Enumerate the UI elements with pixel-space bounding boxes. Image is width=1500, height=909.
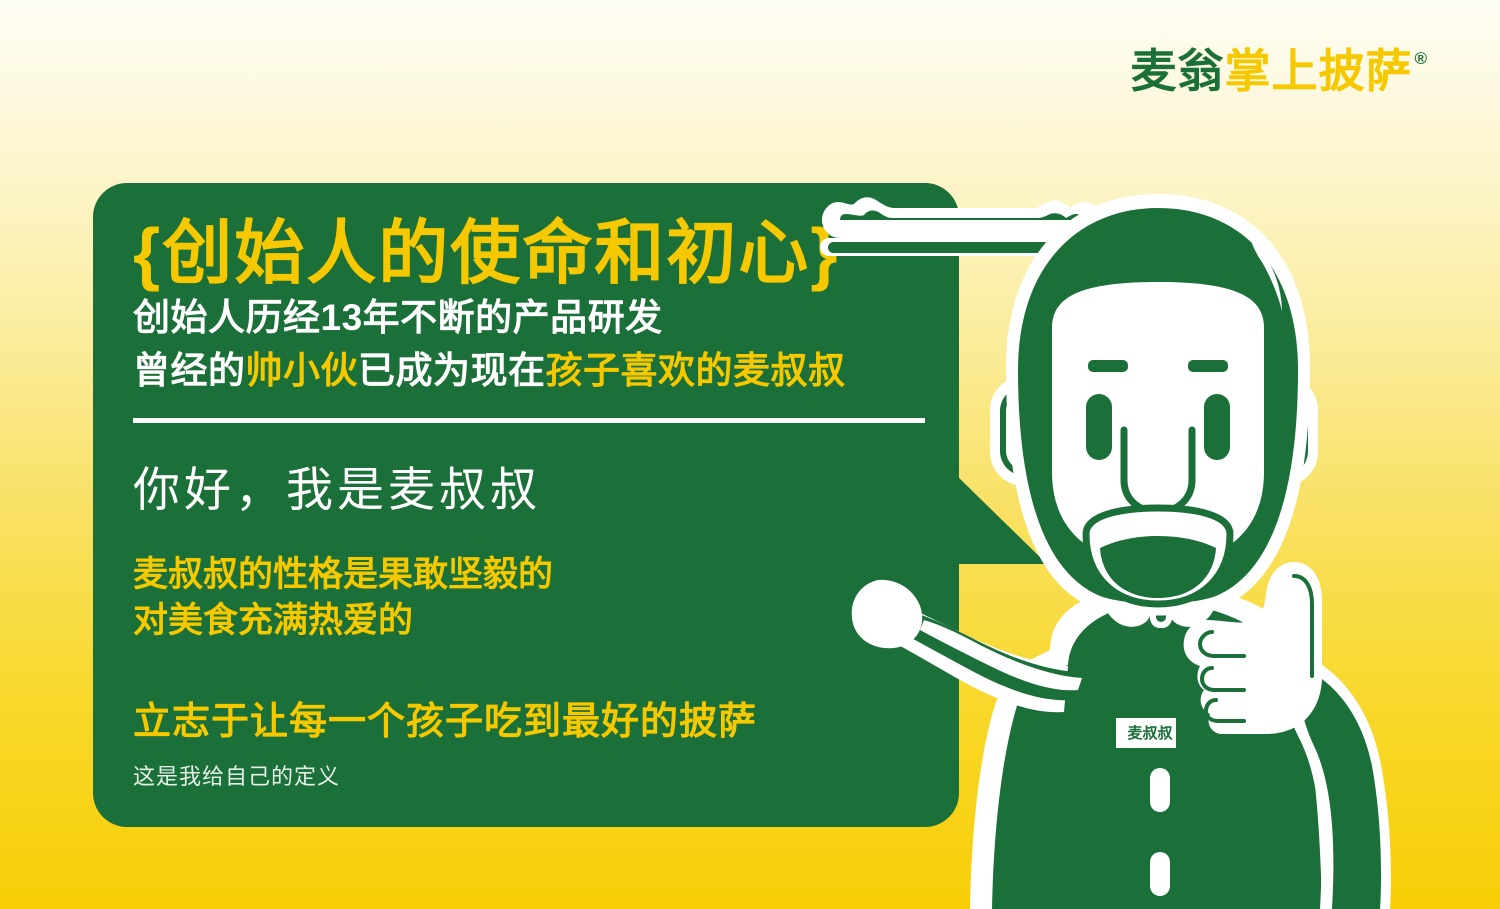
subtitle-segment-plain-2: 已成为现在: [358, 350, 546, 391]
mascot-illustration: [820, 180, 1500, 909]
trait-line-2: 对美食充满热爱的: [133, 598, 919, 644]
brand-logo: 麦翁 掌上披萨 ®: [1130, 48, 1428, 94]
brand-name-green: 麦翁: [1130, 48, 1224, 94]
subtitle-line-1: 创始人历经13年不断的产品研发: [133, 291, 919, 345]
greeting-text: 你好，我是麦叔叔: [133, 451, 919, 520]
subtitle-segment-highlight-2: 孩子喜欢的麦叔叔: [546, 350, 846, 391]
subtitle-segment-plain-1: 曾经的: [133, 350, 246, 391]
subtitle-line-2: 曾经的帅小伙已成为现在孩子喜欢的麦叔叔: [133, 344, 919, 398]
registered-trademark-icon: ®: [1414, 50, 1428, 67]
mission-note: 这是我给自己的定义: [133, 759, 919, 791]
trait-text: 麦叔叔的性格是果敢坚毅的 对美食充满热爱的: [133, 552, 919, 644]
mascot-arm-left: [852, 580, 1082, 712]
subtitle-segment-highlight-1: 帅小伙: [246, 350, 359, 391]
name-badge: [1116, 718, 1176, 748]
brand-name-gold: 掌上披萨: [1224, 48, 1412, 94]
panel-content: {创始人的使命和初心} 创始人历经13年不断的产品研发 曾经的帅小伙已成为现在孩…: [133, 217, 919, 791]
section-divider: [133, 418, 925, 423]
trait-line-1: 麦叔叔的性格是果敢坚毅的: [133, 552, 919, 598]
mission-statement: 立志于让每一个孩子吃到最好的披萨: [133, 690, 919, 745]
page-title: {创始人的使命和初心}: [133, 217, 919, 291]
